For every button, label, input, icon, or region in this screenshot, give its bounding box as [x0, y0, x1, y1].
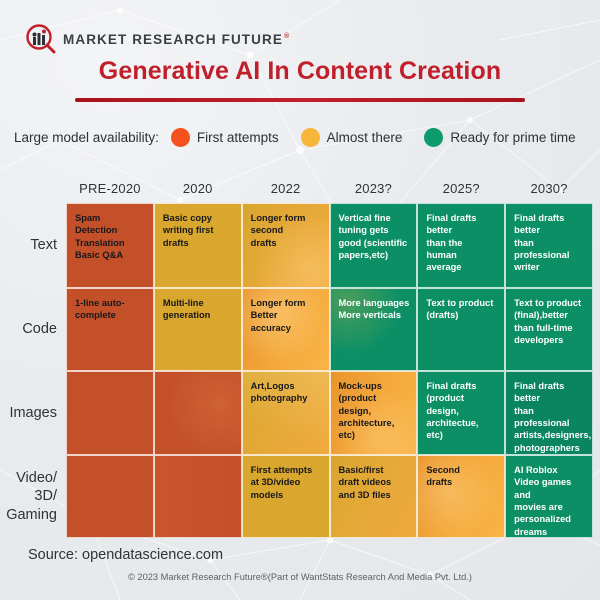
matrix-cell-r3-c1[interactable]: [154, 455, 242, 538]
legend-item-first-attempts: First attempts: [171, 128, 279, 147]
matrix-cell-r2-c3[interactable]: Mock-ups (product design, architecture, …: [330, 371, 418, 455]
matrix-column-header-4: 2025?: [417, 181, 505, 196]
matrix-cell-text: More languages More verticals: [339, 298, 410, 320]
matrix-column-header-2: 2022: [242, 181, 330, 196]
cell-photo-overlay: [155, 456, 241, 537]
matrix-cell-text: Mock-ups (product design, architecture, …: [339, 381, 395, 440]
capability-matrix: PRE-2020202020222023?2025?2030? TextSpam…: [0, 170, 600, 538]
legend-text-first-attempts: First attempts: [197, 130, 279, 145]
matrix-body: TextSpam Detection Translation Basic Q&A…: [0, 203, 600, 538]
matrix-cell-r0-c0[interactable]: Spam Detection Translation Basic Q&A: [66, 203, 154, 288]
matrix-cell-text: 1-line auto- complete: [75, 298, 125, 320]
legend: Large model availability: First attempts…: [14, 124, 590, 150]
matrix-cell-r2-c0[interactable]: [66, 371, 154, 455]
matrix-cell-r1-c0[interactable]: 1-line auto- complete: [66, 288, 154, 371]
matrix-cell-r1-c5[interactable]: Text to product (final),better than full…: [505, 288, 593, 371]
registered-mark: ®: [284, 33, 290, 40]
brand-name: MARKET RESEARCH FUTURE®: [63, 32, 290, 47]
matrix-column-headers: PRE-2020202020222023?2025?2030?: [0, 170, 600, 196]
matrix-cell-text: Text to product (final),better than full…: [514, 298, 581, 345]
legend-label: Large model availability:: [14, 130, 159, 145]
matrix-cell-text: Spam Detection Translation Basic Q&A: [75, 213, 125, 260]
matrix-cell-r1-c2[interactable]: Longer form Better accuracy: [242, 288, 330, 371]
page-title: Generative AI In Content Creation: [0, 57, 600, 86]
matrix-cell-r1-c3[interactable]: More languages More verticals: [330, 288, 418, 371]
matrix-cell-text: Final drafts better than the human avera…: [426, 213, 476, 272]
cell-photo-overlay: [155, 372, 241, 454]
market-research-future-logo-icon: [26, 24, 56, 54]
matrix-cell-text: Longer form second drafts: [251, 213, 306, 248]
matrix-cell-r1-c1[interactable]: Multi-line generation: [154, 288, 242, 371]
matrix-cell-r0-c1[interactable]: Basic copy writing first drafts: [154, 203, 242, 288]
matrix-cell-r0-c5[interactable]: Final drafts better than professional wr…: [505, 203, 593, 288]
matrix-column-header-5: 2030?: [505, 181, 593, 196]
matrix-cell-text: Final drafts better than professional wr…: [514, 213, 569, 272]
matrix-cell-text: Final drafts better than professional ar…: [514, 381, 591, 453]
matrix-cell-r3-c4[interactable]: Second drafts: [417, 455, 505, 538]
matrix-cell-r2-c2[interactable]: Art,Logos photography: [242, 371, 330, 455]
cell-photo-overlay: [67, 372, 153, 454]
matrix-cell-text: Vertical fine tuning gets good (scientif…: [339, 213, 408, 260]
matrix-row-label-2: Images: [0, 371, 66, 455]
matrix-cell-r0-c2[interactable]: Longer form second drafts: [242, 203, 330, 288]
matrix-cell-r3-c2[interactable]: First attempts at 3D/video models: [242, 455, 330, 538]
copyright-text: © 2023 Market Research Future®(Part of W…: [0, 572, 600, 582]
matrix-column-header-0: PRE-2020: [66, 181, 154, 196]
infographic-page: MARKET RESEARCH FUTURE® Generative AI In…: [0, 0, 600, 600]
matrix-cell-text: AI Roblox Video games and movies are per…: [514, 465, 571, 537]
legend-dot-first-attempts: [171, 128, 190, 147]
matrix-cell-r0-c3[interactable]: Vertical fine tuning gets good (scientif…: [330, 203, 418, 288]
cell-photo-overlay: [67, 456, 153, 537]
matrix-cell-text: Final drafts (product design, architectu…: [426, 381, 478, 440]
matrix-row-label-1: Code: [0, 288, 66, 371]
matrix-cell-r3-c5[interactable]: AI Roblox Video games and movies are per…: [505, 455, 593, 538]
matrix-cell-text: Basic copy writing first drafts: [163, 213, 214, 248]
matrix-column-header-3: 2023?: [330, 181, 418, 196]
legend-item-almost-there: Almost there: [301, 128, 403, 147]
matrix-cell-text: Text to product (drafts): [426, 298, 493, 320]
legend-dot-almost-there: [301, 128, 320, 147]
matrix-cell-r3-c3[interactable]: Basic/first draft videos and 3D files: [330, 455, 418, 538]
legend-item-ready-for-prime-time: Ready for prime time: [424, 128, 575, 147]
matrix-cell-text: Basic/first draft videos and 3D files: [339, 465, 392, 500]
brand-logo: MARKET RESEARCH FUTURE®: [26, 24, 290, 54]
matrix-cell-r2-c4[interactable]: Final drafts (product design, architectu…: [417, 371, 505, 455]
legend-text-almost-there: Almost there: [327, 130, 403, 145]
legend-dot-ready-for-prime-time: [424, 128, 443, 147]
matrix-cell-r2-c1[interactable]: [154, 371, 242, 455]
matrix-cell-text: Second drafts: [426, 465, 460, 487]
matrix-cell-text: Multi-line generation: [163, 298, 211, 320]
title-divider: [75, 98, 525, 102]
matrix-cell-text: First attempts at 3D/video models: [251, 465, 312, 500]
source-text: Source: opendatascience.com: [28, 547, 223, 563]
matrix-column-header-1: 2020: [154, 181, 242, 196]
matrix-row-label-0: Text: [0, 203, 66, 288]
matrix-cell-text: Art,Logos photography: [251, 381, 308, 403]
matrix-cell-r1-c4[interactable]: Text to product (drafts): [417, 288, 505, 371]
matrix-cell-r2-c5[interactable]: Final drafts better than professional ar…: [505, 371, 593, 455]
matrix-row-label-3: Video/ 3D/ Gaming: [0, 455, 66, 538]
matrix-cell-r3-c0[interactable]: [66, 455, 154, 538]
matrix-cell-text: Longer form Better accuracy: [251, 298, 306, 333]
legend-text-ready-for-prime-time: Ready for prime time: [450, 130, 575, 145]
matrix-cell-r0-c4[interactable]: Final drafts better than the human avera…: [417, 203, 505, 288]
